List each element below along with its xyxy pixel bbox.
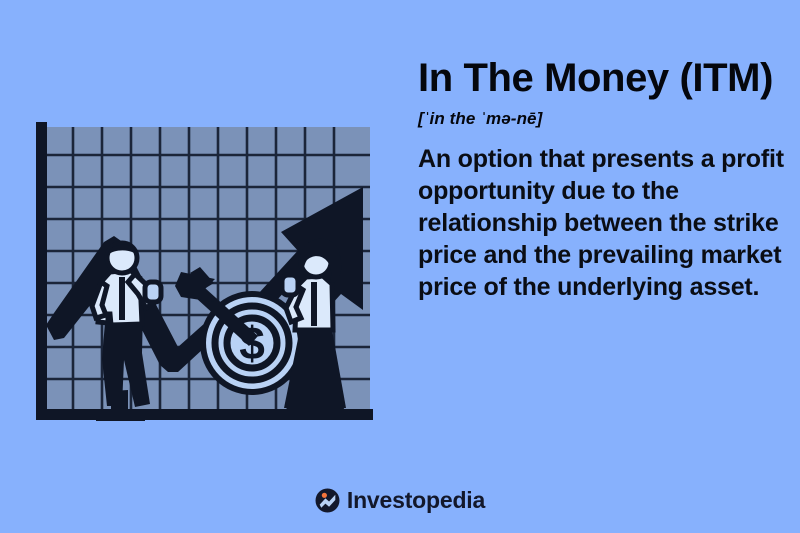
man-phone [145, 282, 161, 302]
investopedia-mark-icon [315, 488, 340, 513]
market-chart-target-illustration: $ [18, 110, 390, 422]
page-title: In The Money (ITM) [418, 56, 790, 101]
chart-y-axis [36, 122, 47, 420]
investopedia-logo: Investopedia [0, 488, 800, 513]
definition-text: An option that presents a profit opportu… [418, 143, 790, 303]
definition-card: $ [0, 0, 800, 533]
definition-panel: In The Money (ITM) [ˈin the ˈmə-nē] An o… [418, 56, 790, 303]
chart-x-axis [36, 409, 373, 420]
woman-phone [282, 275, 298, 295]
brand-name: Investopedia [347, 489, 485, 512]
pronunciation-text: [ˈin the ˈmə-nē] [418, 109, 790, 129]
